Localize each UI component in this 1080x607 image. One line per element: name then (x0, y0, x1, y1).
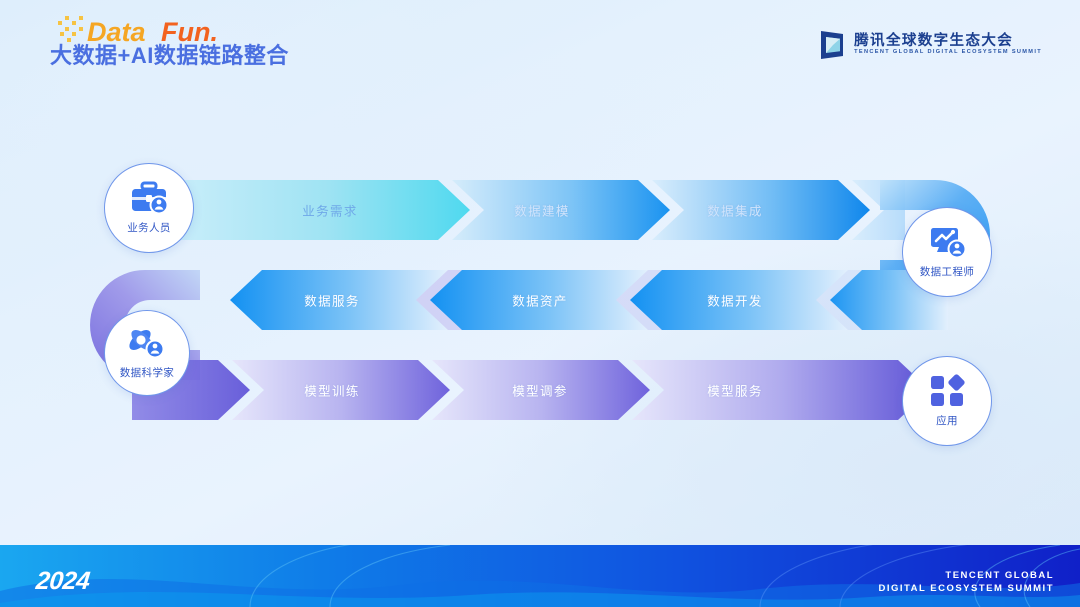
slide-footer: 2024 TENCENT GLOBAL DIGITAL ECOSYSTEM SU… (0, 545, 1080, 607)
role-label-app: 应用 (936, 413, 958, 428)
monitor-chart-person-icon (927, 225, 967, 259)
stage-label-row1-0: 业务需求 (302, 201, 358, 220)
stage-label-row2-2: 数据开发 (707, 291, 763, 310)
page-title: 大数据+AI数据链路整合 (50, 38, 289, 70)
footer-summit-text: TENCENT GLOBAL DIGITAL ECOSYSTEM SUMMIT (878, 570, 1054, 596)
tencent-mark-icon (819, 30, 845, 60)
data-pipeline-diagram: 业务需求 数据建模 数据集成 数据服务 数据资产 数据开发 模型训练 模型调参 … (0, 140, 1080, 470)
stage-label-row3-0: 模型训练 (304, 381, 360, 400)
role-label-scientist: 数据科学家 (120, 365, 175, 380)
footer-line-1: TENCENT GLOBAL (878, 570, 1054, 583)
footer-line-2: DIGITAL ECOSYSTEM SUMMIT (878, 583, 1054, 596)
stage-label-row3-2: 模型服务 (707, 381, 763, 400)
stage-label-row1-2: 数据集成 (707, 201, 763, 220)
role-node-app[interactable]: 应用 (902, 356, 992, 446)
role-label-engineer: 数据工程师 (920, 264, 975, 279)
tencent-logo-cn: 腾讯全球数字生态大会 (854, 34, 1042, 49)
molecule-person-icon (127, 326, 167, 360)
role-label-business: 业务人员 (127, 220, 171, 235)
tencent-summit-logo: 腾讯全球数字生态大会 TENCENT GLOBAL DIGITAL ECOSYS… (819, 30, 1042, 60)
stage-label-row2-0: 数据服务 (304, 291, 360, 310)
role-node-engineer[interactable]: 数据工程师 (902, 207, 992, 297)
slide-root: Data Fun. 大数据+AI数据链路整合 腾讯全球数字生态大会 TENCEN… (0, 0, 1080, 607)
role-node-scientist[interactable]: 数据科学家 (104, 310, 190, 396)
tencent-logo-en: TENCENT GLOBAL DIGITAL ECOSYSTEM SUMMIT (854, 50, 1042, 56)
stage-label-row2-1: 数据资产 (512, 291, 568, 310)
app-grid-icon (929, 374, 965, 408)
slide-header: Data Fun. 大数据+AI数据链路整合 腾讯全球数字生态大会 TENCEN… (0, 0, 1080, 90)
footer-year: 2024 (34, 567, 91, 596)
stage-label-row1-1: 数据建模 (514, 201, 570, 220)
role-node-business[interactable]: 业务人员 (104, 163, 194, 253)
briefcase-person-icon (129, 181, 169, 215)
stage-label-row3-1: 模型调参 (512, 381, 568, 400)
